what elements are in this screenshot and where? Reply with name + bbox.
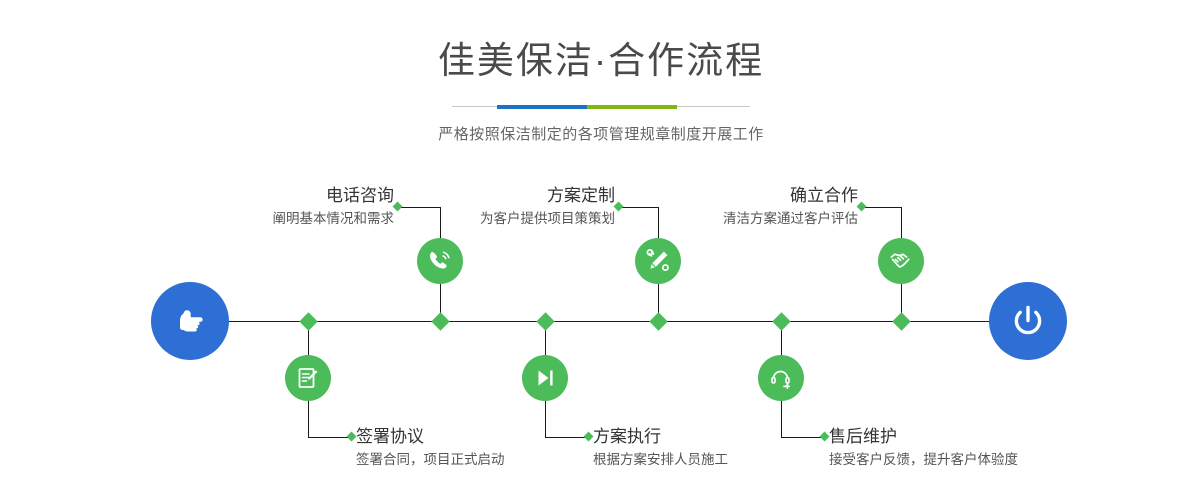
step-label-4: 方案执行 根据方案安排人员施工	[593, 427, 728, 469]
step-desc-2: 签署合同，项目正式启动	[356, 450, 505, 469]
step-icon-circle-4[interactable]	[522, 355, 568, 401]
step-label-2: 签署协议 签署合同，项目正式启动	[356, 427, 505, 469]
axis-marker-2	[299, 312, 317, 330]
step-icon-circle-6[interactable]	[758, 355, 804, 401]
divider-green-segment	[587, 105, 677, 109]
axis-marker-3	[649, 312, 667, 330]
label-marker-1	[393, 202, 403, 212]
label-marker-3	[614, 202, 624, 212]
flowchart-canvas: 佳美保洁·合作流程 严格按照保洁制定的各项管理规章制度开展工作	[0, 0, 1202, 502]
divider-blue-segment	[497, 105, 587, 109]
step-title-3: 方案定制	[411, 186, 615, 206]
step-title-5: 确立合作	[654, 186, 858, 206]
step-desc-6: 接受客户反馈，提升客户体验度	[829, 450, 1018, 469]
step-icon-circle-1[interactable]	[417, 238, 463, 284]
play-execute-icon	[532, 365, 558, 391]
step-label-1: 电话咨询 阐明基本情况和需求	[186, 186, 394, 228]
label-marker-4	[584, 432, 594, 442]
pencil-ruler-icon	[645, 248, 671, 274]
pointing-hand-icon	[170, 301, 210, 341]
step-desc-3: 为客户提供项目策策划	[411, 209, 615, 228]
step-label-6: 售后维护 接受客户反馈，提升客户体验度	[829, 427, 1018, 469]
step-title-4: 方案执行	[593, 427, 728, 447]
power-icon	[1007, 300, 1049, 342]
step-icon-circle-5[interactable]	[878, 238, 924, 284]
customer-service-icon	[768, 365, 794, 391]
step-label-5: 确立合作 清洁方案通过客户评估	[654, 186, 858, 228]
step-desc-5: 清洁方案通过客户评估	[654, 209, 858, 228]
page-subtitle: 严格按照保洁制定的各项管理规章制度开展工作	[0, 123, 1202, 144]
connector-horizontal-4	[545, 437, 588, 438]
axis-marker-5	[892, 312, 910, 330]
connector-horizontal-6	[781, 437, 824, 438]
timeline-end-node	[989, 282, 1067, 360]
connector-horizontal-3	[619, 207, 658, 208]
page-title: 佳美保洁·合作流程	[0, 42, 1202, 79]
label-marker-6	[820, 432, 830, 442]
label-marker-5	[857, 202, 867, 212]
step-title-2: 签署协议	[356, 427, 505, 447]
label-marker-2	[347, 432, 357, 442]
step-icon-circle-3[interactable]	[635, 238, 681, 284]
axis-marker-6	[772, 312, 790, 330]
step-icon-circle-2[interactable]	[285, 355, 331, 401]
document-edit-icon	[295, 365, 321, 391]
step-title-6: 售后维护	[829, 427, 1018, 447]
step-label-3: 方案定制 为客户提供项目策策划	[411, 186, 615, 228]
header: 佳美保洁·合作流程 严格按照保洁制定的各项管理规章制度开展工作	[0, 0, 1202, 144]
step-desc-1: 阐明基本情况和需求	[186, 209, 394, 228]
connector-horizontal-5	[862, 207, 901, 208]
axis-marker-4	[536, 312, 554, 330]
axis-marker-1	[431, 312, 449, 330]
phone-call-icon	[427, 248, 453, 274]
step-desc-4: 根据方案安排人员施工	[593, 450, 728, 469]
handshake-icon	[888, 248, 914, 274]
connector-horizontal-2	[308, 437, 351, 438]
timeline-start-node	[151, 282, 229, 360]
step-title-1: 电话咨询	[186, 186, 394, 206]
title-divider	[452, 102, 750, 112]
